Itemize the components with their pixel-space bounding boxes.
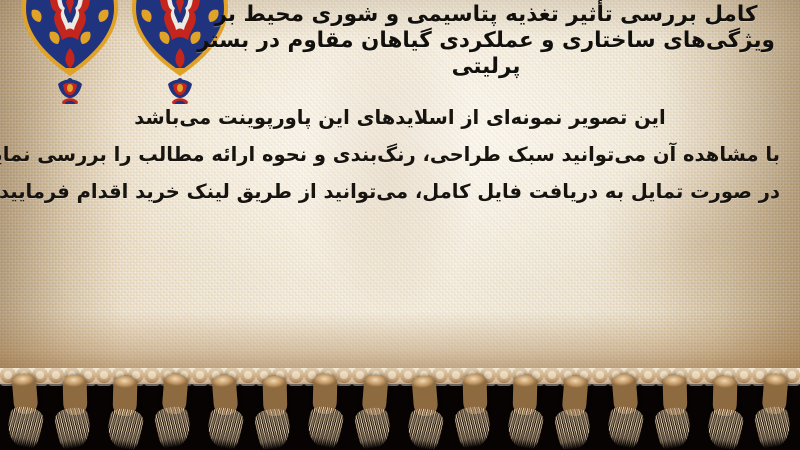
tassel-brush bbox=[153, 405, 192, 449]
tassel-brush bbox=[253, 407, 292, 450]
tassel-brush bbox=[353, 406, 392, 450]
tassel-brush bbox=[605, 405, 645, 450]
tassel-brush bbox=[653, 406, 692, 450]
tassel-brush bbox=[405, 407, 445, 450]
slide-title-line-3: پرلیتی bbox=[186, 54, 786, 80]
slide-body-line-3: در صورت تمایل به دریافت فایل کامل، می‌تو… bbox=[20, 180, 780, 203]
fringe-tassel bbox=[702, 376, 748, 448]
tassel-brush bbox=[305, 405, 345, 450]
carpet-fringe-band bbox=[0, 368, 800, 450]
fringe-tassel bbox=[552, 376, 598, 448]
tassel-brush bbox=[53, 406, 92, 450]
fringe-tassel bbox=[502, 375, 548, 447]
fringe-tassel bbox=[102, 376, 148, 448]
fringe-tassel bbox=[302, 374, 348, 446]
tassel-brush bbox=[705, 407, 745, 450]
fringe-tassel bbox=[152, 374, 198, 446]
slide-body-line-1: این تصویر نمونه‌ای از اسلایدهای این پاور… bbox=[20, 106, 780, 129]
fringe-tassel bbox=[402, 376, 448, 448]
tassel-brush bbox=[505, 406, 545, 450]
fringe-tassel bbox=[752, 374, 798, 446]
slide-title: کامل بررسی تأثیر تغذیه پتاسیمی و شوری مح… bbox=[186, 2, 786, 81]
carpet-medallion-left-icon bbox=[18, 0, 122, 104]
fringe-tassel bbox=[352, 375, 398, 447]
fringe-tassel bbox=[2, 374, 48, 446]
tassel-brush bbox=[5, 405, 45, 450]
slide-title-line-1: کامل بررسی تأثیر تغذیه پتاسیمی و شوری مح… bbox=[186, 2, 786, 28]
fringe-tassel bbox=[652, 375, 698, 447]
fringe-tassel bbox=[602, 374, 648, 446]
tassel-brush bbox=[205, 406, 245, 450]
tassel-brush bbox=[553, 407, 592, 450]
tassel-brush bbox=[453, 405, 492, 449]
presentation-slide: کامل بررسی تأثیر تغذیه پتاسیمی و شوری مح… bbox=[0, 0, 800, 450]
slide-body-line-2: با مشاهده آن می‌توانید سبک طراحی، رنگ‌بن… bbox=[20, 143, 780, 166]
fringe-tassel bbox=[52, 375, 98, 447]
slide-body: این تصویر نمونه‌ای از اسلایدهای این پاور… bbox=[20, 106, 780, 203]
edge-shadow-bottom bbox=[0, 312, 800, 372]
fringe-tassel bbox=[452, 374, 498, 446]
tassel-brush bbox=[105, 407, 145, 450]
fringe-tassel bbox=[202, 375, 248, 447]
fringe-tassel bbox=[252, 376, 298, 448]
tassel-brush bbox=[753, 405, 792, 449]
slide-title-line-2: ویژگی‌های ساختاری و عملکردی گیاهان مقاوم… bbox=[186, 28, 786, 54]
